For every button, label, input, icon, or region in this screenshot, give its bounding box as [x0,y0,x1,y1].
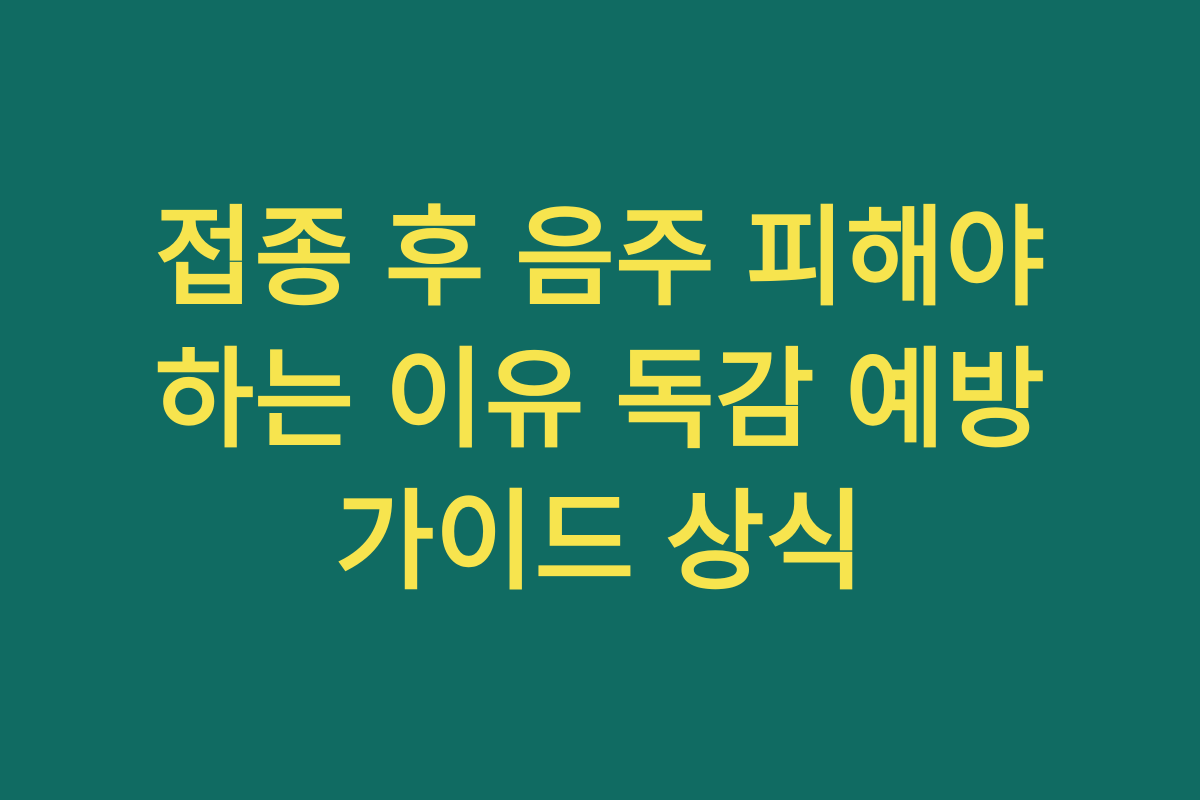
banner-canvas: 접종 후 음주 피해야 하는 이유 독감 예방 가이드 상식 [0,0,1200,800]
page-title: 접종 후 음주 피해야 하는 이유 독감 예방 가이드 상식 [58,187,1142,613]
headline-block: 접종 후 음주 피해야 하는 이유 독감 예방 가이드 상식 [58,187,1142,613]
